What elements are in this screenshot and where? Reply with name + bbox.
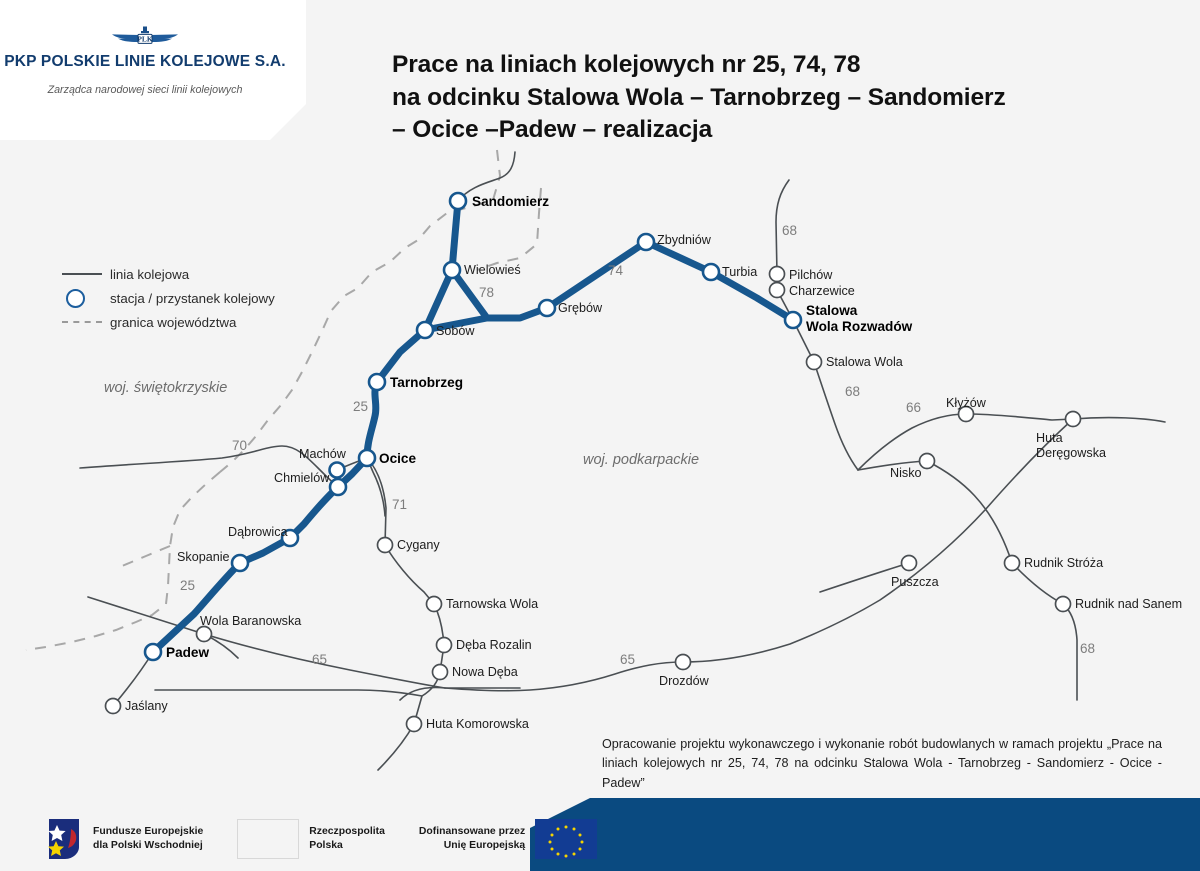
fundusze-europejskie-icon <box>45 817 93 861</box>
station-label-grebow: Grębów <box>558 301 602 315</box>
line-number-65-east: 65 <box>620 652 635 667</box>
station-label-jaslany: Jaślany <box>125 699 168 713</box>
line-number-68-north: 68 <box>782 223 797 238</box>
voivodeship-label-swietokrzyskie: woj. świętokrzyskie <box>104 380 227 396</box>
voivodeship-border <box>26 150 541 650</box>
station-label-cygany: Cygany <box>397 538 440 552</box>
title-line-1: Prace na liniach kolejowych nr 25, 74, 7… <box>392 49 1162 81</box>
station-label-nisko: Nisko <box>890 466 922 480</box>
station-label-wielowies: Wielowieś <box>464 263 521 277</box>
station-label-klyzow: Kłyżów <box>946 396 986 410</box>
station-label-nowa-deba: Nowa Dęba <box>452 665 518 679</box>
bottom-blue-banner <box>530 798 1200 871</box>
line-number-74: 74 <box>608 263 623 278</box>
logo-tagline: Zarządca narodowej sieci linii kolejowyc… <box>0 84 290 96</box>
page-title: Prace na liniach kolejowych nr 25, 74, 7… <box>392 49 1162 145</box>
station-label-chmielow: Chmielów <box>274 471 329 485</box>
station-circle-icon <box>62 289 110 308</box>
line-number-65-west: 65 <box>312 652 327 667</box>
line-number-70: 70 <box>232 438 247 453</box>
rzeczpospolita-polska-logo: Rzeczpospolita Polska <box>237 816 385 862</box>
line-number-68-south: 68 <box>1080 641 1095 656</box>
station-label-huta-deregowska: Huta Deręgowska <box>1036 431 1106 461</box>
station-label-wola-baranowska: Wola Baranowska <box>200 614 301 628</box>
station-label-sandomierz: Sandomierz <box>472 194 549 209</box>
line-number-71: 71 <box>392 497 407 512</box>
dofinansowane-ue-text: Dofinansowane przez Unię Europejską <box>419 825 525 852</box>
eu-funding-footer: Fundusze Europejskie dla Polski Wschodni… <box>45 810 597 868</box>
plk-winged-emblem-icon: PLK <box>110 26 180 50</box>
line-number-25-tarnobrzeg: 25 <box>353 399 368 414</box>
station-label-charzewice: Charzewice <box>789 284 855 298</box>
pkp-plk-logo-card: PLK PKP POLSKIE LINIE KOLEJOWE S.A. Zarz… <box>0 0 306 140</box>
rzeczpospolita-polska-text: Rzeczpospolita Polska <box>309 825 385 852</box>
line-number-78: 78 <box>479 285 494 300</box>
line-number-25-padew: 25 <box>180 578 195 593</box>
fundusze-europejskie-text: Fundusze Europejskie dla Polski Wschodni… <box>93 825 203 852</box>
legend-label-station: stacja / przystanek kolejowy <box>110 291 275 306</box>
rail-line-icon <box>62 273 110 275</box>
station-label-stalowa-wola: Stalowa Wola <box>826 355 903 369</box>
station-label-deba-rozalin: Dęba Rozalin <box>456 638 532 652</box>
legend-item-border: granica województwa <box>62 310 275 334</box>
station-label-drozdow: Drozdów <box>659 674 709 688</box>
eu-flag-icon <box>535 819 597 859</box>
voivodeship-label-podkarpackie: woj. podkarpackie <box>583 452 699 468</box>
station-label-skopanie: Skopanie <box>177 550 230 564</box>
station-label-huta-komorowska: Huta Komorowska <box>426 717 529 731</box>
legend-label-border: granica województwa <box>110 315 236 330</box>
station-label-rudnik-nad-sanem: Rudnik nad Sanem <box>1075 597 1182 611</box>
svg-text:PLK: PLK <box>137 35 152 44</box>
legend-item-rail-line: linia kolejowa <box>62 262 275 286</box>
station-label-sobow: Sobów <box>436 324 475 338</box>
polish-flag-icon <box>237 819 299 859</box>
logo-wordmark: PKP POLSKIE LINIE KOLEJOWE S.A. <box>0 53 290 71</box>
station-label-padew: Padew <box>166 645 209 660</box>
station-label-turbia: Turbia <box>722 265 757 279</box>
project-description: Opracowanie projektu wykonawczego i wyko… <box>602 735 1162 794</box>
station-label-rudnik-stroza: Rudnik Stróża <box>1024 556 1103 570</box>
title-line-3: – Ocice –Padew – realizacja <box>392 114 1162 146</box>
station-label-tarnowska-wola: Tarnowska Wola <box>446 597 538 611</box>
line-number-66: 66 <box>906 400 921 415</box>
dashed-border-icon <box>62 321 110 323</box>
dofinansowane-ue-logo: Dofinansowane przez Unię Europejską <box>419 816 597 862</box>
line-number-68-stalowa: 68 <box>845 384 860 399</box>
station-label-dabrowica: Dąbrowica <box>228 525 288 539</box>
legend-item-station: stacja / przystanek kolejowy <box>62 286 275 310</box>
map-legend: linia kolejowa stacja / przystanek kolej… <box>62 262 275 334</box>
legend-label-rail-line: linia kolejowa <box>110 267 189 282</box>
station-label-ocice: Ocice <box>379 451 416 466</box>
fundusze-europejskie-logo: Fundusze Europejskie dla Polski Wschodni… <box>45 816 203 862</box>
station-label-machow: Machów <box>299 447 346 461</box>
infographic-canvas: Sandomierz Wielowieś Sobów Grębów Zbydni… <box>0 0 1200 871</box>
station-label-zbydniow: Zbydniów <box>657 233 711 247</box>
title-line-2: na odcinku Stalowa Wola – Tarnobrzeg – S… <box>392 82 1162 114</box>
eu-stars-icon <box>535 819 597 859</box>
station-label-puszcza: Puszcza <box>891 575 939 589</box>
station-label-pilchow: Pilchów <box>789 268 832 282</box>
station-label-stalowa-wola-rozwadow: Stalowa Wola Rozwadów <box>806 303 912 335</box>
station-label-tarnobrzeg: Tarnobrzeg <box>390 375 463 390</box>
